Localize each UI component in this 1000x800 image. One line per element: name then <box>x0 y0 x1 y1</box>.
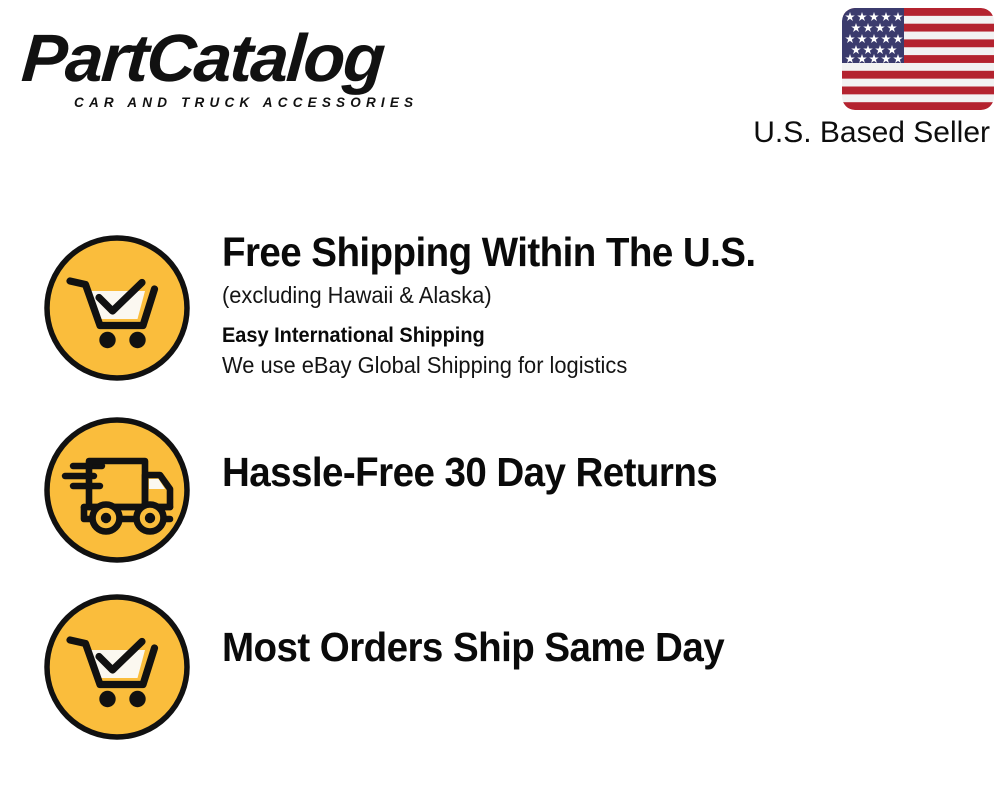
cart-check-icon <box>42 233 192 383</box>
feature-list: Free Shipping Within The U.S. (excluding… <box>0 225 1000 745</box>
feature-text: Most Orders Ship Same Day <box>192 580 1000 671</box>
cart-check-icon <box>42 592 192 742</box>
feature-row: Hassle-Free 30 Day Returns <box>0 405 1000 580</box>
feature-headline: Most Orders Ship Same Day <box>222 624 953 671</box>
feature-row: Most Orders Ship Same Day <box>0 580 1000 745</box>
seller-badge-label: U.S. Based Seller <box>739 116 994 150</box>
feature-subhead-detail: We use eBay Global Shipping for logistic… <box>222 350 961 380</box>
delivery-truck-icon <box>42 415 192 565</box>
us-based-seller-badge: U.S. Based Seller <box>739 8 994 150</box>
feature-headline: Hassle-Free 30 Day Returns <box>222 449 953 496</box>
feature-text: Free Shipping Within The U.S. (excluding… <box>192 225 1000 380</box>
brand-logo: PartCatalog CAR AND TRUCK ACCESSORIES <box>22 24 492 114</box>
feature-text: Hassle-Free 30 Day Returns <box>192 405 1000 496</box>
promotional-banner: PartCatalog CAR AND TRUCK ACCESSORIES <box>0 0 1000 800</box>
feature-headline: Free Shipping Within The U.S. <box>222 229 953 276</box>
brand-tagline: CAR AND TRUCK ACCESSORIES <box>74 95 492 110</box>
feature-row: Free Shipping Within The U.S. (excluding… <box>0 225 1000 405</box>
brand-wordmark: PartCatalog <box>20 24 504 94</box>
us-flag-icon <box>842 8 994 110</box>
feature-subline: (excluding Hawaii & Alaska) <box>222 280 961 310</box>
feature-subhead: Easy International Shipping <box>222 322 961 349</box>
